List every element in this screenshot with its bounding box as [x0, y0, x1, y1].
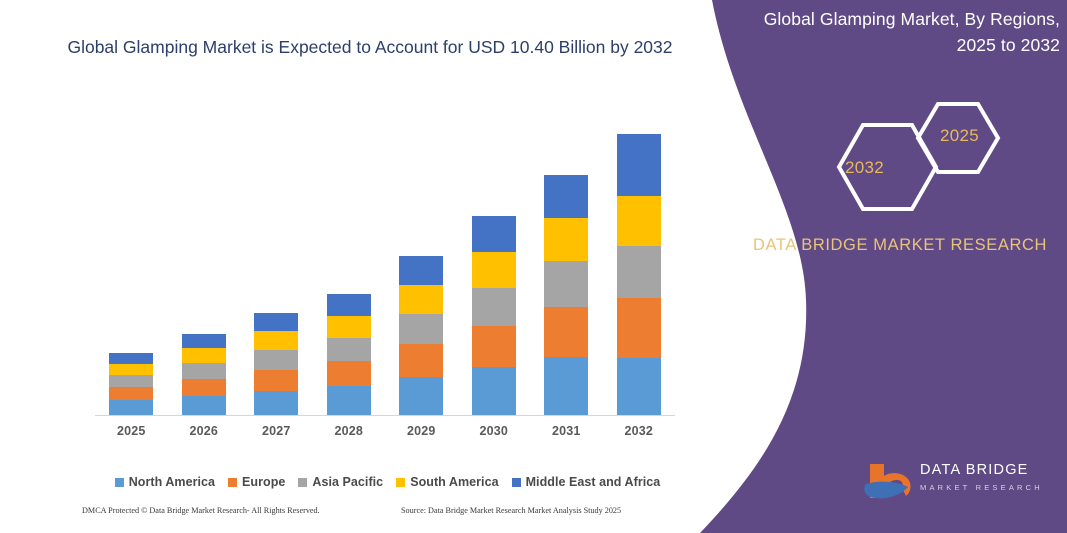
panel-title: Global Glamping Market, By Regions, 2025… [740, 6, 1060, 58]
bar-segment[interactable] [617, 298, 661, 358]
logo-line-primary: DATA BRIDGE [920, 462, 1043, 479]
bar-segment[interactable] [617, 134, 661, 196]
legend-item[interactable]: Europe [228, 475, 285, 489]
bar-column-2032[interactable] [617, 134, 661, 415]
legend-item[interactable]: North America [115, 475, 215, 489]
bar-segment[interactable] [472, 216, 516, 252]
x-axis-label-2026: 2026 [168, 424, 240, 438]
data-bridge-logo: DATA BRIDGE MARKET RESEARCH [862, 458, 1062, 513]
bar-column-2028[interactable] [327, 294, 371, 415]
data-bridge-mark-icon [862, 458, 918, 504]
bar-segment[interactable] [544, 357, 588, 415]
bar-segment[interactable] [544, 175, 588, 218]
bar-segment[interactable] [327, 386, 371, 415]
bar-segment[interactable] [109, 387, 153, 400]
legend-label: Europe [242, 475, 285, 489]
bar-segment[interactable] [254, 391, 298, 415]
bar-segment[interactable] [109, 400, 153, 415]
bar-segment[interactable] [544, 261, 588, 307]
bar-segment[interactable] [182, 363, 226, 379]
bar-segment[interactable] [182, 334, 226, 348]
bar-segment[interactable] [182, 348, 226, 363]
chart-legend: North AmericaEuropeAsia PacificSouth Ame… [95, 472, 680, 492]
bar-chart-plot [95, 115, 675, 415]
bar-column-2027[interactable] [254, 313, 298, 415]
legend-item[interactable]: Middle East and Africa [512, 475, 661, 489]
bar-segment[interactable] [109, 364, 153, 375]
x-axis-line [95, 415, 675, 416]
bar-segment[interactable] [327, 361, 371, 386]
x-axis-label-2030: 2030 [458, 424, 530, 438]
bar-column-2030[interactable] [472, 216, 516, 415]
brand-name: DATA BRIDGE MARKET RESEARCH [740, 232, 1060, 258]
footer-dmca-text: DMCA Protected © Data Bridge Market Rese… [82, 506, 320, 515]
bar-segment[interactable] [472, 252, 516, 288]
x-axis-labels: 20252026202720282029203020312032 [95, 424, 675, 446]
hexagon-label-2025: 2025 [940, 126, 979, 146]
bar-segment[interactable] [472, 288, 516, 326]
hexagon-group: 2032 2025 [815, 100, 1060, 215]
bar-segment[interactable] [327, 294, 371, 316]
bar-segment[interactable] [472, 326, 516, 367]
legend-swatch-icon [512, 478, 521, 487]
bar-segment[interactable] [109, 353, 153, 364]
x-axis-label-2031: 2031 [530, 424, 602, 438]
footer: DMCA Protected © Data Bridge Market Rese… [82, 506, 682, 522]
footer-source-text: Source: Data Bridge Market Research Mark… [401, 506, 621, 515]
bar-segment[interactable] [254, 370, 298, 391]
legend-swatch-icon [298, 478, 307, 487]
bar-segment[interactable] [182, 396, 226, 415]
bar-segment[interactable] [617, 196, 661, 246]
bar-segment[interactable] [327, 316, 371, 338]
bar-segment[interactable] [399, 314, 443, 344]
legend-label: Asia Pacific [312, 475, 383, 489]
logo-line-secondary: MARKET RESEARCH [920, 482, 1043, 494]
bar-segment[interactable] [617, 246, 661, 298]
bar-column-2031[interactable] [544, 175, 588, 415]
x-axis-label-2027: 2027 [240, 424, 312, 438]
x-axis-label-2032: 2032 [603, 424, 675, 438]
bar-segment[interactable] [399, 377, 443, 415]
bar-segment[interactable] [254, 331, 298, 350]
bar-column-2026[interactable] [182, 334, 226, 415]
legend-item[interactable]: Asia Pacific [298, 475, 383, 489]
x-axis-label-2025: 2025 [95, 424, 167, 438]
bar-segment[interactable] [399, 256, 443, 285]
bar-segment[interactable] [617, 358, 661, 415]
bar-segment[interactable] [399, 344, 443, 377]
bar-segment[interactable] [399, 285, 443, 314]
bar-segment[interactable] [544, 218, 588, 261]
bar-column-2025[interactable] [109, 353, 153, 415]
bar-segment[interactable] [109, 375, 153, 387]
legend-label: Middle East and Africa [526, 475, 661, 489]
chart-title: Global Glamping Market is Expected to Ac… [60, 34, 680, 61]
infographic-canvas: Global Glamping Market, By Regions, 2025… [0, 0, 1067, 533]
legend-swatch-icon [115, 478, 124, 487]
hexagon-label-2032: 2032 [845, 158, 884, 178]
logo-wordmark: DATA BRIDGE MARKET RESEARCH [920, 462, 1043, 494]
bar-segment[interactable] [254, 350, 298, 370]
legend-label: South America [410, 475, 498, 489]
bar-segment[interactable] [182, 379, 226, 396]
x-axis-label-2028: 2028 [313, 424, 385, 438]
bar-segment[interactable] [327, 338, 371, 361]
legend-swatch-icon [396, 478, 405, 487]
legend-label: North America [129, 475, 215, 489]
bar-segment[interactable] [254, 313, 298, 331]
bar-column-2029[interactable] [399, 256, 443, 415]
legend-swatch-icon [228, 478, 237, 487]
panel-content: Global Glamping Market, By Regions, 2025… [740, 0, 1067, 533]
x-axis-label-2029: 2029 [385, 424, 457, 438]
legend-item[interactable]: South America [396, 475, 498, 489]
bar-segment[interactable] [544, 307, 588, 357]
bar-segment[interactable] [472, 367, 516, 415]
